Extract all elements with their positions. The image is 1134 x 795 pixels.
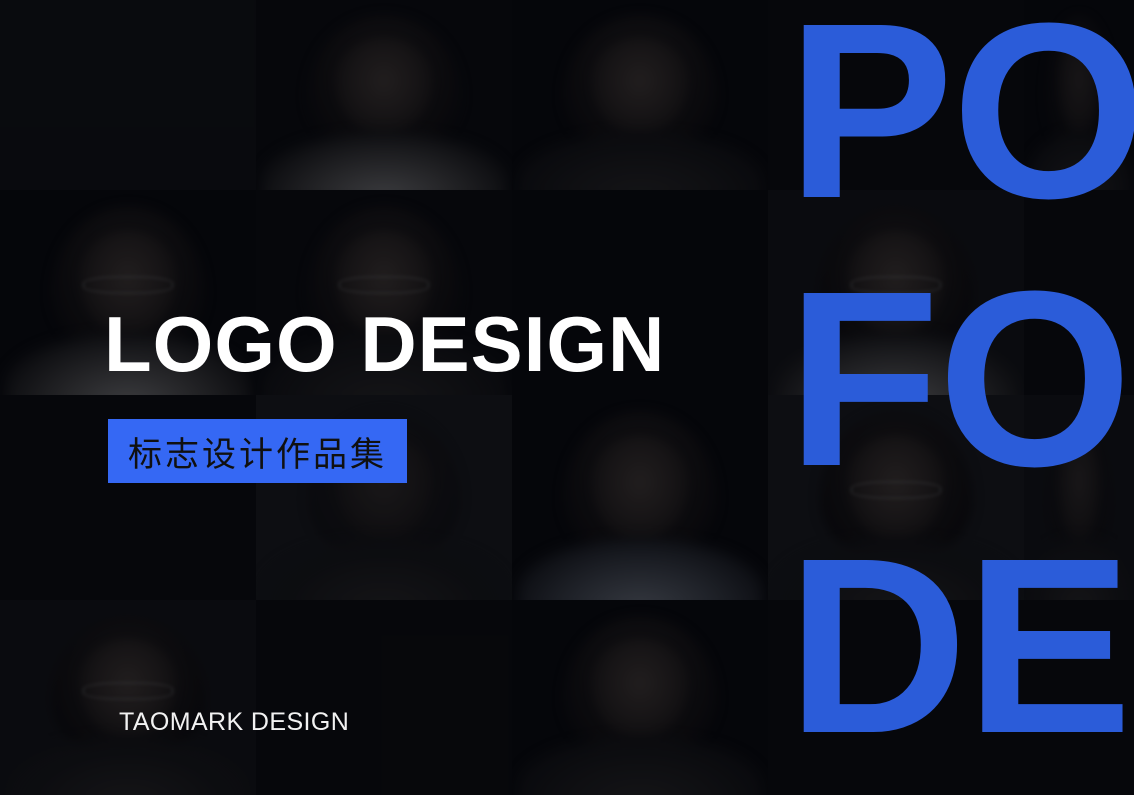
brand-footer: TAOMARK DESIGN — [119, 708, 349, 737]
subtitle-badge: 标志设计作品集 — [108, 419, 407, 483]
page-title: LOGO DESIGN — [104, 305, 665, 383]
foreground-content: LOGO DESIGN 标志设计作品集 TAOMARK DESIGN — [0, 0, 1134, 795]
subtitle-badge-label: 标志设计作品集 — [128, 427, 387, 476]
poster-canvas: PO FO DE LOGO DESIGN 标志设计作品集 TAOMARK DES… — [0, 0, 1134, 795]
